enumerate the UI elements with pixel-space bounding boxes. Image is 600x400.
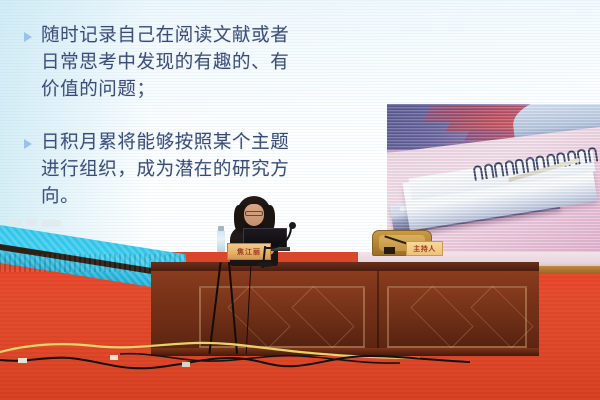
table-object: [26, 218, 37, 225]
table-object: [8, 219, 22, 226]
table-object: [41, 220, 61, 227]
projected-slide: 随时记录自己在阅读文献或者 日常思考中发现的有趣的、有 价值的问题； 日积月累将…: [0, 0, 600, 252]
triangle-bullet-icon: [24, 32, 32, 42]
host-nameplate: 主持人: [406, 241, 443, 256]
lecture-hall-photo: 随时记录自己在阅读文献或者 日常思考中发现的有趣的、有 价值的问题； 日积月累将…: [0, 0, 600, 400]
water-bottle: [217, 230, 225, 252]
cable-connector: [182, 362, 190, 367]
water-bottle-cap: [218, 226, 224, 231]
speaker-nameplate-text: 焦江丽: [237, 247, 261, 257]
slide-bullet-1-text: 随时记录自己在阅读文献或者 日常思考中发现的有趣的、有 价值的问题；: [41, 22, 289, 103]
microphone-base: [256, 262, 274, 267]
slide-bullet-2: 日积月累将能够按照某个主题 进行组织，成为潜在的研究方 向。: [24, 129, 384, 210]
host-sign-block: [384, 247, 395, 254]
floor-cables: [0, 330, 600, 390]
cable-connector: [18, 358, 27, 363]
eyeglasses-icon: [245, 211, 263, 216]
black-cable-1: [0, 356, 470, 368]
microphone-head: [289, 222, 296, 229]
slide-bullet-list: 随时记录自己在阅读文献或者 日常思考中发现的有趣的、有 价值的问题； 日积月累将…: [24, 22, 384, 210]
slide-bullet-1: 随时记录自己在阅读文献或者 日常思考中发现的有趣的、有 价值的问题；: [24, 22, 384, 103]
podium-top-surface: [151, 262, 539, 271]
host-nameplate-text: 主持人: [413, 244, 436, 254]
cable-connector: [110, 355, 118, 360]
triangle-bullet-icon: [24, 139, 32, 149]
